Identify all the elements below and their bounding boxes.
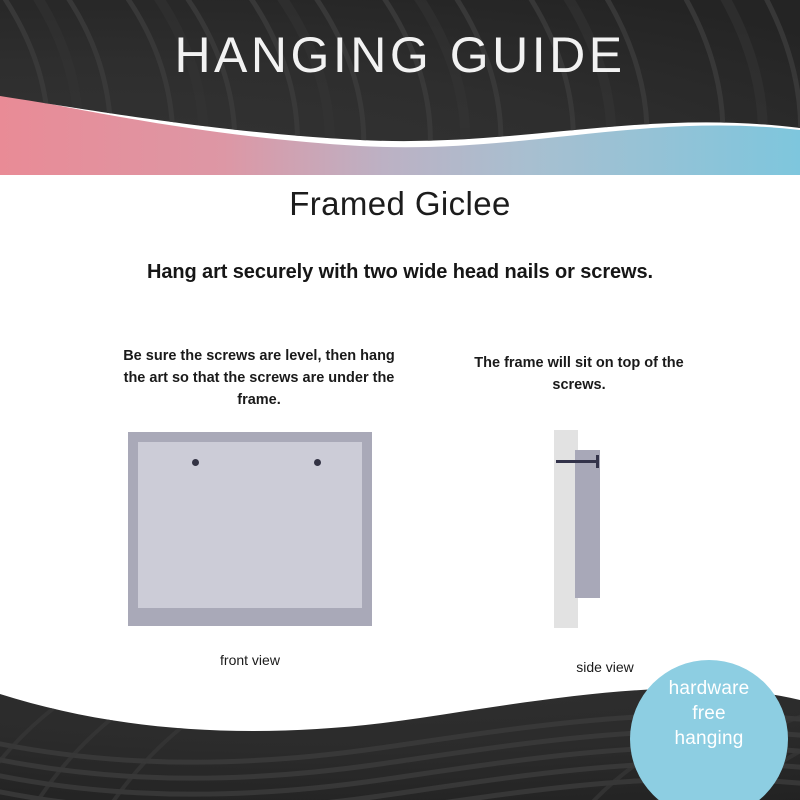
front-view-label: front view	[128, 652, 372, 668]
front-view-frame	[128, 432, 372, 626]
side-view-caption: The frame will sit on top of the screws.	[455, 352, 703, 396]
badge-line-2: free	[692, 701, 726, 726]
front-view-frame-inner	[138, 442, 362, 608]
side-view-frame	[575, 450, 600, 598]
lead-instruction: Hang art securely with two wide head nai…	[0, 261, 800, 284]
product-title: Framed Giclee	[0, 185, 800, 223]
screw-dot-left-icon	[192, 459, 199, 466]
screw-shaft-icon	[556, 460, 598, 463]
screw-dot-right-icon	[314, 459, 321, 466]
screw-head-icon	[596, 455, 599, 468]
badge-line-3: hanging	[674, 726, 743, 751]
front-view-caption: Be sure the screws are level, then hang …	[118, 345, 400, 411]
hanging-guide-poster: HANGING GUIDE	[0, 0, 800, 800]
badge-line-1: hardware	[669, 676, 750, 701]
